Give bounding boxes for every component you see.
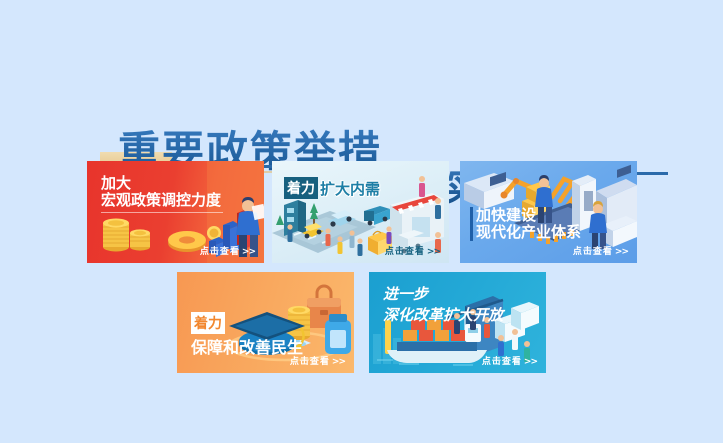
card5-cta-label: 点击查看 [482, 357, 522, 367]
card1-cta[interactable]: 点击查看>> [200, 244, 255, 257]
card-modern-industry[interactable]: 加快建设 现代化产业体系 点击查看>> [460, 161, 637, 263]
card4-line2: 保障和改善民生 [191, 339, 303, 357]
card2-cta[interactable]: 点击查看>> [385, 244, 440, 257]
card3-cta-arrow: >> [615, 247, 628, 257]
card3-line2: 现代化产业体系 [470, 224, 581, 241]
card2-cta-arrow: >> [427, 247, 440, 257]
page-header: 重要政策举措 及实施效果 [0, 55, 723, 150]
card3-accent-bar [470, 207, 473, 241]
card3-cta[interactable]: 点击查看>> [573, 244, 628, 257]
card4-cta-arrow: >> [332, 357, 345, 367]
card-improve-livelihood[interactable]: 着力 保障和改善民生 点击查看>> [177, 272, 354, 373]
card3-cta-label: 点击查看 [573, 247, 613, 257]
card2-line2: 扩大内需 [320, 178, 380, 199]
card5-line2: 深化改革扩大开放 [383, 307, 503, 324]
card-macro-policy[interactable]: 加大 宏观政策调控力度 点击查看>> [87, 161, 264, 263]
card-expand-demand[interactable]: 着力扩大内需 点击查看>> [272, 161, 449, 263]
card4-cta[interactable]: 点击查看>> [290, 354, 345, 367]
card1-line1: 加大 [101, 175, 223, 192]
card1-cta-label: 点击查看 [200, 247, 240, 257]
card2-line1: 着力 [284, 177, 318, 199]
card2-cta-label: 点击查看 [385, 247, 425, 257]
card5-cta-arrow: >> [524, 357, 537, 367]
card5-cta[interactable]: 点击查看>> [482, 354, 537, 367]
card1-cta-arrow: >> [242, 247, 255, 257]
card5-line1: 进一步 [383, 286, 503, 303]
card-reform-opening[interactable]: 进一步 深化改革扩大开放 点击查看>> [369, 272, 546, 373]
card4-cta-label: 点击查看 [290, 357, 330, 367]
card3-line1: 加快建设 [470, 207, 581, 224]
card1-separator [101, 212, 223, 213]
card1-line2: 宏观政策调控力度 [101, 192, 223, 209]
card4-line1: 着力 [191, 312, 225, 334]
